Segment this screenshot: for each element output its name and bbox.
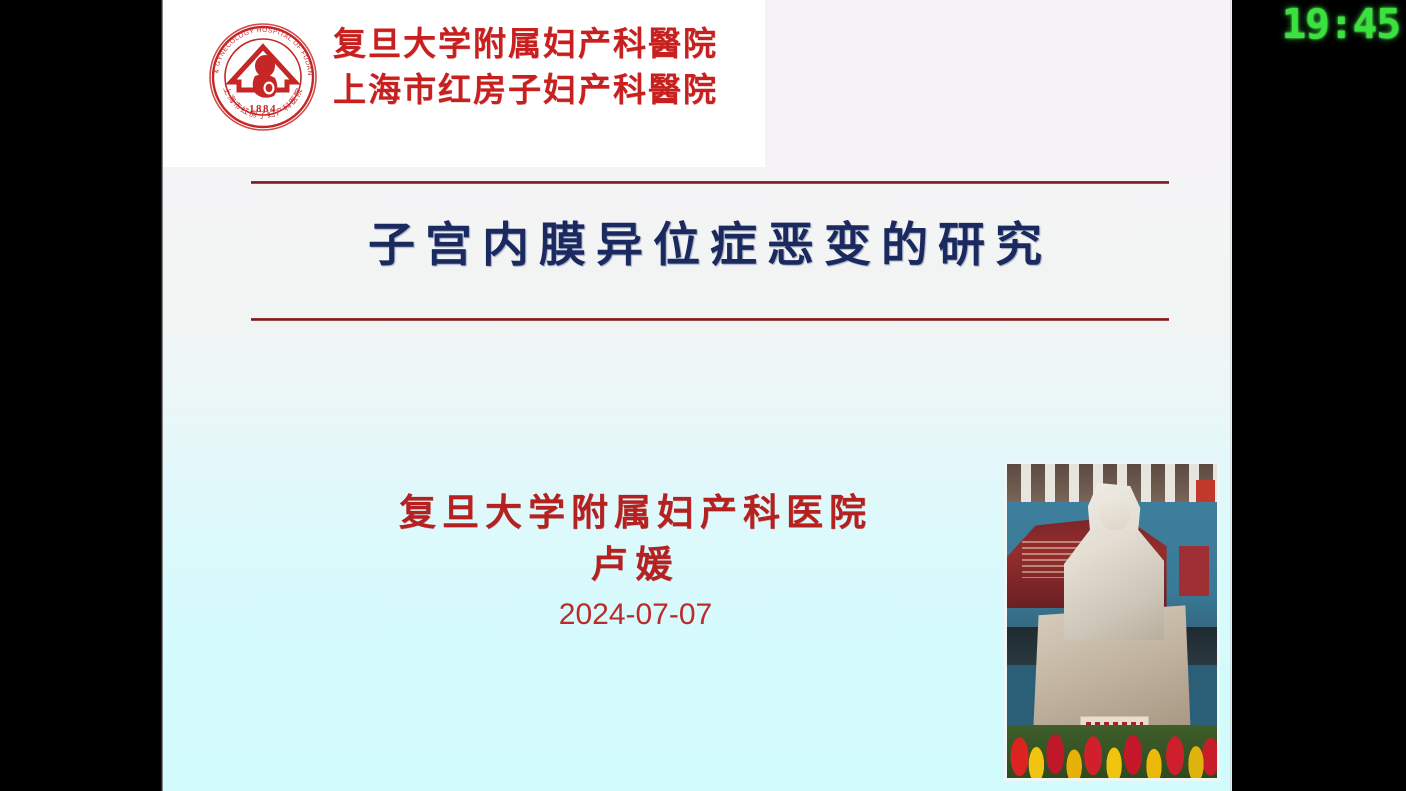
title-rule-bottom	[251, 318, 1169, 321]
letterbox-left	[0, 0, 161, 791]
slide-title: 子宫内膜异位症恶变的研究	[251, 206, 1169, 275]
statue-bust-photo	[1004, 461, 1220, 781]
presentation-slide: OBSTETRICS & GYNECOLOGY HOSPITAL OF FUDA…	[163, 0, 1232, 791]
presentation-date: 2024-07-07	[223, 597, 1048, 633]
hospital-wordmark: 复旦大学附属妇产科醫院 上海市红房子妇产科醫院	[333, 22, 743, 114]
slide-edge-right	[1230, 0, 1232, 791]
photo-red-accent-2	[1196, 480, 1215, 502]
wordmark-line-2: 上海市红房子妇产科醫院	[333, 68, 743, 114]
digital-clock: 19:45	[1282, 2, 1400, 46]
presenter-name: 卢媛	[223, 540, 1048, 592]
photo-bust-face	[1100, 495, 1130, 530]
wordmark-line-1: 复旦大学附属妇产科醫院	[333, 22, 743, 68]
photo-content	[1007, 464, 1217, 778]
slide-edge-left	[161, 0, 163, 791]
title-rule-top	[251, 181, 1169, 184]
letterbox-right	[1232, 0, 1406, 791]
photo-red-accent	[1179, 546, 1208, 596]
screen: OBSTETRICS & GYNECOLOGY HOSPITAL OF FUDA…	[0, 0, 1406, 791]
hospital-seal-logo-icon: OBSTETRICS & GYNECOLOGY HOSPITAL OF FUDA…	[202, 16, 324, 138]
svg-text:1884: 1884	[249, 103, 277, 115]
hospital-logo-banner: OBSTETRICS & GYNECOLOGY HOSPITAL OF FUDA…	[163, 0, 765, 167]
photo-flower-bed	[1007, 725, 1217, 778]
presenter-block: 复旦大学附属妇产科医院 卢媛 2024-07-07	[223, 488, 1048, 633]
presenter-organization: 复旦大学附属妇产科医院	[223, 488, 1048, 540]
